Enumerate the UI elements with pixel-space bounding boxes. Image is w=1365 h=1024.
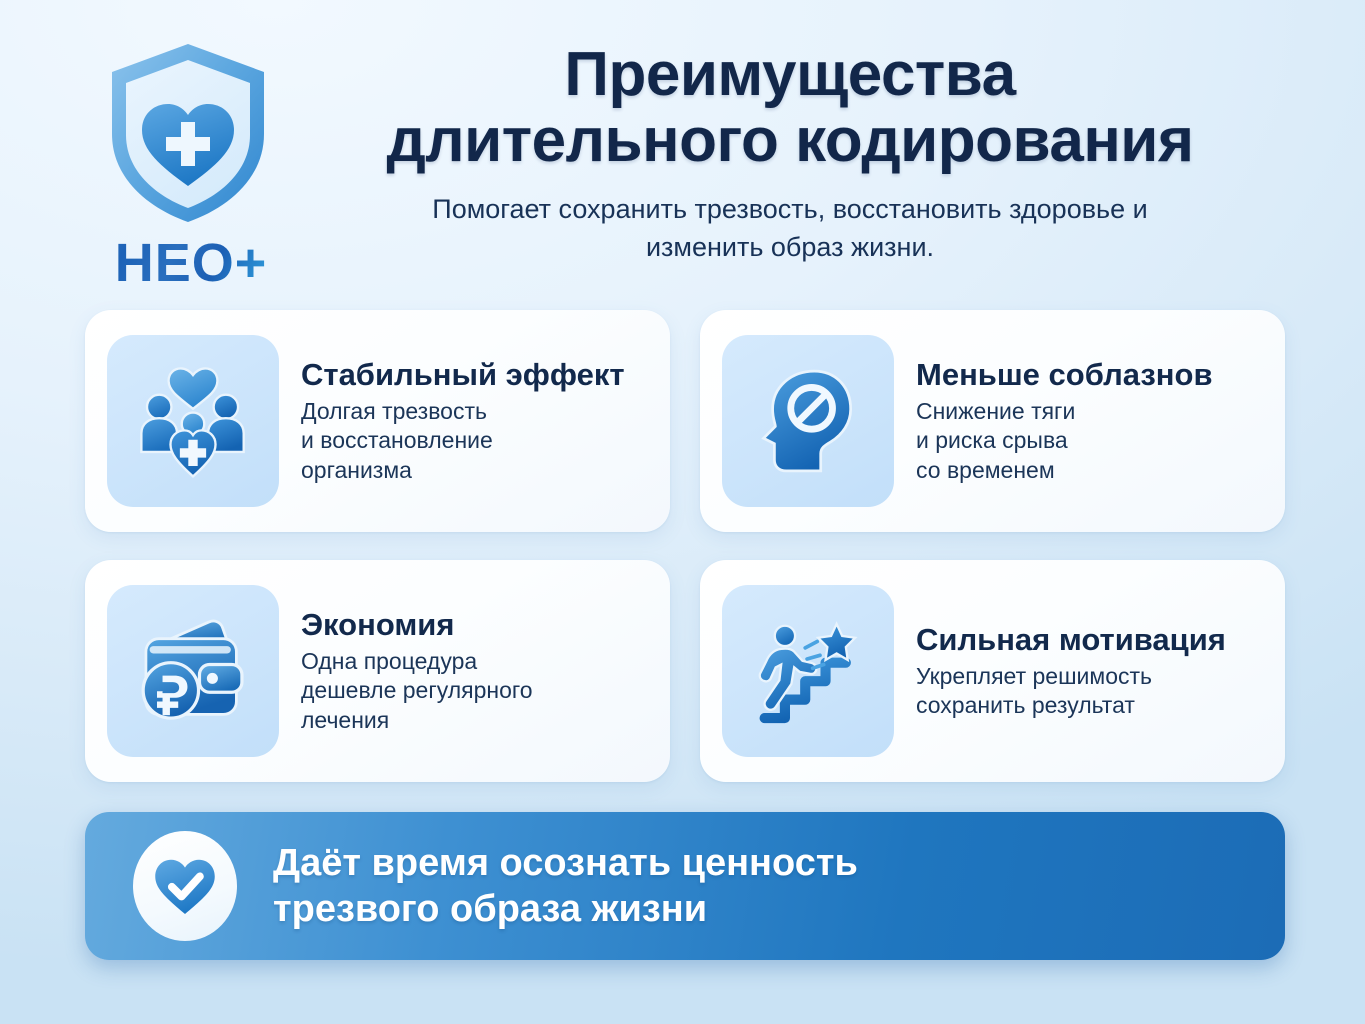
icon-tile (722, 335, 894, 507)
card-text: Сильная мотивация Укрепляет решимость со… (916, 622, 1265, 721)
icon-tile (107, 335, 279, 507)
stairs-star-person-icon (748, 611, 868, 731)
card-title: Экономия (301, 607, 650, 642)
card-text: Стабильный эффект Долгая трезвость и вос… (301, 357, 650, 485)
summary-banner: Даёт время осознать ценность трезвого об… (85, 812, 1285, 960)
page-title-line-2: длительного кодирования (290, 108, 1290, 174)
card-description: Снижение тяги и риска срыва со временем (916, 397, 1265, 485)
benefit-card-less-temptation: Меньше соблазнов Снижение тяги и риска с… (700, 310, 1285, 532)
card-description: Укрепляет решимость сохранить результат (916, 662, 1265, 721)
card-text: Меньше соблазнов Снижение тяги и риска с… (916, 357, 1265, 485)
poster-header: НЕО+ Преимущества длительного кодировани… (0, 0, 1365, 300)
icon-tile (107, 585, 279, 757)
benefit-card-stable-effect: Стабильный эффект Долгая трезвость и вос… (85, 310, 670, 532)
card-title: Сильная мотивация (916, 622, 1265, 657)
infographic-poster: НЕО+ Преимущества длительного кодировани… (0, 0, 1365, 1024)
benefits-grid: Стабильный эффект Долгая трезвость и вос… (85, 310, 1285, 790)
icon-tile (722, 585, 894, 757)
card-description: Долгая трезвость и восстановление органи… (301, 397, 650, 485)
heart-check-badge-icon (150, 851, 220, 921)
brand-wordmark: НЕО+ (76, 232, 306, 294)
family-heart-plus-icon (132, 360, 254, 482)
card-title: Меньше соблазнов (916, 357, 1265, 392)
benefit-card-savings: Экономия Одна процедура дешевле регулярн… (85, 560, 670, 782)
wallet-ruble-coin-icon (133, 611, 253, 731)
page-subtitle: Помогает сохранить трезвость, восстанови… (400, 191, 1180, 266)
card-description: Одна процедура дешевле регулярного лечен… (301, 647, 650, 735)
shield-heart-plus-icon (98, 38, 278, 228)
card-title: Стабильный эффект (301, 357, 650, 392)
page-title: Преимущества длительного кодирования (290, 42, 1290, 173)
page-title-line-1: Преимущества (564, 40, 1015, 109)
title-block: Преимущества длительного кодирования Пом… (290, 42, 1290, 266)
head-prohibition-icon (749, 362, 867, 480)
banner-text: Даёт время осознать ценность трезвого об… (273, 840, 858, 933)
brand-logo: НЕО+ (76, 38, 306, 293)
card-text: Экономия Одна процедура дешевле регулярн… (301, 607, 650, 735)
banner-badge (133, 831, 237, 941)
benefit-card-motivation: Сильная мотивация Укрепляет решимость со… (700, 560, 1285, 782)
